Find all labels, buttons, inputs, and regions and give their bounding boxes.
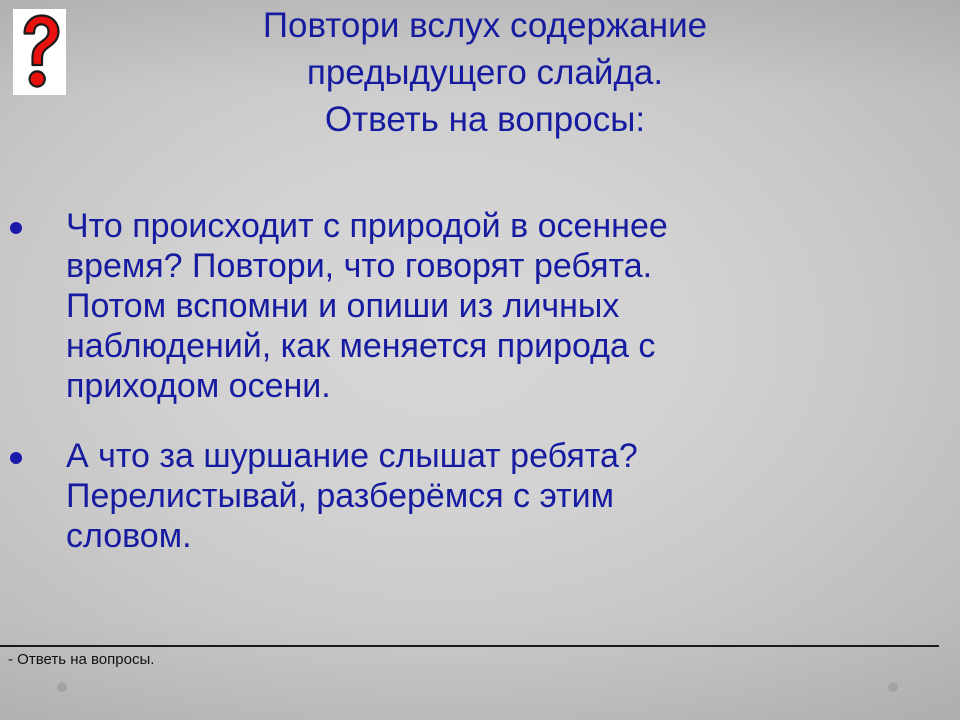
bullet-item-1: Что происходит с природой в осеннее врем… [0, 206, 900, 406]
bullet-2-text: А что за шуршание слышат ребята? Перелис… [66, 436, 866, 556]
decorative-dot-right [888, 682, 898, 692]
bullet-2-line-2: Перелистывай, разберёмся с этим [66, 476, 866, 516]
bullet-1-line-5: приходом осени. [66, 366, 866, 406]
slide-canvas: Повтори вслух содержание предыдущего сла… [0, 0, 960, 720]
bullet-1-line-2: время? Повтори, что говорят ребята. [66, 246, 866, 286]
bullet-2-line-3: словом. [66, 516, 866, 556]
slide-title: Повтори вслух содержание предыдущего сла… [70, 2, 900, 143]
bullet-1-line-1: Что происходит с природой в осеннее [66, 206, 866, 246]
slide-body: Что происходит с природой в осеннее врем… [0, 206, 900, 586]
footer-note: - Ответь на вопросы. [8, 650, 154, 670]
bullet-item-2: А что за шуршание слышат ребята? Перелис… [0, 436, 900, 556]
footer-divider [0, 645, 939, 647]
bullet-1-text: Что происходит с природой в осеннее врем… [66, 206, 866, 406]
bullet-1-line-3: Потом вспомни и опиши из личных [66, 286, 866, 326]
bullet-1-line-4: наблюдений, как меняется природа с [66, 326, 866, 366]
decorative-dot-left [57, 682, 67, 692]
bullet-marker-icon [10, 222, 22, 234]
question-mark-icon [15, 12, 64, 92]
bullet-2-line-1: А что за шуршание слышат ребята? [66, 436, 866, 476]
bullet-marker-icon [10, 452, 22, 464]
title-line-2: предыдущего слайда. [70, 49, 900, 96]
question-mark-image [13, 9, 66, 95]
title-line-3: Ответь на вопросы: [70, 96, 900, 143]
title-line-1: Повтори вслух содержание [70, 2, 900, 49]
